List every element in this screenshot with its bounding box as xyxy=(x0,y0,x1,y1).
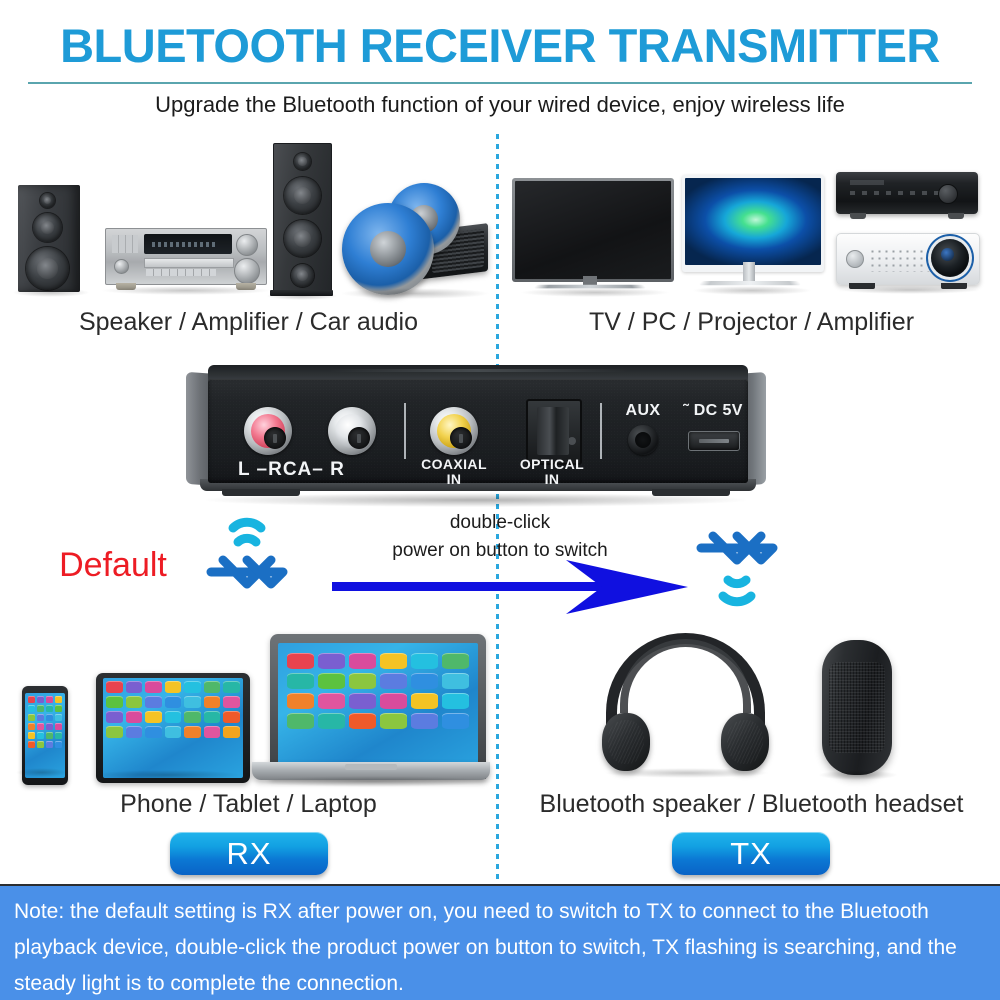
app-icon xyxy=(318,653,345,669)
infographic-page: BLUETOOTH RECEIVER TRANSMITTER Upgrade t… xyxy=(0,0,1000,1000)
app-icon xyxy=(46,741,53,748)
app-icon xyxy=(46,705,53,712)
rca-right-jack xyxy=(328,407,376,455)
app-icon xyxy=(411,673,438,689)
app-icon xyxy=(380,653,407,669)
app-icon xyxy=(349,673,376,689)
app-icon xyxy=(380,693,407,709)
app-icon xyxy=(126,711,143,723)
app-icon xyxy=(349,653,376,669)
aux-label: AUX xyxy=(618,403,668,418)
coaxial-label-line2: IN xyxy=(447,471,462,487)
app-icon xyxy=(287,693,314,709)
page-title: BLUETOOTH RECEIVER TRANSMITTER xyxy=(0,18,1000,73)
app-icon xyxy=(55,705,62,712)
app-icon xyxy=(126,681,143,693)
app-icon xyxy=(106,681,123,693)
app-icon xyxy=(380,713,407,729)
app-icon xyxy=(165,726,182,738)
app-icon xyxy=(223,711,240,723)
coaxial-label-line1: COAXIAL xyxy=(421,456,487,472)
app-icon xyxy=(411,693,438,709)
app-icon xyxy=(442,673,469,689)
app-icon xyxy=(28,696,35,703)
aux-jack xyxy=(628,425,658,455)
app-icon xyxy=(126,726,143,738)
caption-speaker-amplifier-car-audio: Speaker / Amplifier / Car audio xyxy=(0,308,497,337)
app-icon xyxy=(184,711,201,723)
app-icon xyxy=(28,714,35,721)
optical-label-line1: OPTICAL xyxy=(520,456,584,472)
app-icon xyxy=(28,741,35,748)
app-icon xyxy=(37,705,44,712)
coaxial-in-jack xyxy=(430,407,478,455)
app-icon xyxy=(55,732,62,739)
app-icon xyxy=(204,726,221,738)
app-icon xyxy=(223,681,240,693)
bluetooth-receiver-device: L –RCA– R COAXIAL IN OPTICAL IN AUX ˜ DC… xyxy=(186,365,766,505)
app-icon xyxy=(46,714,53,721)
app-icon xyxy=(55,696,62,703)
caption-phone-tablet-laptop: Phone / Tablet / Laptop xyxy=(0,790,497,819)
app-icon xyxy=(165,696,182,708)
instruction-line-1: double-click xyxy=(330,512,670,534)
app-icon xyxy=(349,713,376,729)
bluetooth-headset-icon xyxy=(598,633,773,773)
app-icon xyxy=(349,693,376,709)
app-icon xyxy=(184,726,201,738)
tx-badge[interactable]: TX xyxy=(672,832,830,875)
optical-in-label: OPTICAL IN xyxy=(504,457,600,487)
app-icon xyxy=(223,726,240,738)
app-icon xyxy=(165,711,182,723)
app-icon xyxy=(287,673,314,689)
rx-badge[interactable]: RX xyxy=(170,832,328,875)
app-icon xyxy=(55,714,62,721)
app-icon xyxy=(46,723,53,730)
app-icon xyxy=(46,696,53,703)
app-icon xyxy=(37,741,44,748)
app-icon xyxy=(411,713,438,729)
app-icon xyxy=(28,723,35,730)
app-icon xyxy=(287,653,314,669)
app-icon xyxy=(318,673,345,689)
app-icon xyxy=(28,705,35,712)
app-icon xyxy=(126,696,143,708)
app-icon xyxy=(442,693,469,709)
app-icon xyxy=(380,673,407,689)
app-icon xyxy=(223,696,240,708)
tablet-icon xyxy=(96,673,250,783)
app-icon xyxy=(411,653,438,669)
app-icon xyxy=(145,681,162,693)
app-icon xyxy=(145,711,162,723)
app-icon xyxy=(106,711,123,723)
coaxial-in-label: COAXIAL IN xyxy=(406,457,502,487)
caption-tv-pc-projector-amplifier: TV / PC / Projector / Amplifier xyxy=(503,308,1000,337)
app-icon xyxy=(318,713,345,729)
bluetooth-speaker-icon xyxy=(822,640,892,775)
app-icon xyxy=(204,711,221,723)
app-icon xyxy=(442,653,469,669)
title-divider-rule xyxy=(28,82,972,84)
app-icon xyxy=(145,696,162,708)
app-icon xyxy=(287,713,314,729)
app-icon xyxy=(184,696,201,708)
dc-5v-micro-usb-port xyxy=(688,431,740,451)
app-icon xyxy=(37,696,44,703)
app-icon xyxy=(106,726,123,738)
rca-label: L –RCA– R xyxy=(238,459,345,481)
app-icon xyxy=(165,681,182,693)
optical-label-line2: IN xyxy=(545,471,560,487)
app-icon xyxy=(106,696,123,708)
app-icon xyxy=(184,681,201,693)
bluetooth-tx-icon xyxy=(695,518,779,610)
app-icon xyxy=(37,732,44,739)
app-icon xyxy=(37,723,44,730)
app-icon xyxy=(145,726,162,738)
app-icon xyxy=(55,741,62,748)
app-icon xyxy=(46,732,53,739)
dc-5v-label: ˜ DC 5V xyxy=(678,403,748,418)
app-icon xyxy=(442,713,469,729)
default-mode-label: Default xyxy=(28,546,198,585)
device-front-panel: L –RCA– R COAXIAL IN OPTICAL IN AUX ˜ DC… xyxy=(208,379,748,483)
app-icon xyxy=(55,723,62,730)
app-icon xyxy=(204,696,221,708)
app-icon xyxy=(204,681,221,693)
note-banner: Note: the default setting is RX after po… xyxy=(0,884,1000,1000)
app-icon xyxy=(28,732,35,739)
caption-bluetooth-speaker-headset: Bluetooth speaker / Bluetooth headset xyxy=(503,790,1000,819)
rca-left-jack xyxy=(244,407,292,455)
page-subtitle: Upgrade the Bluetooth function of your w… xyxy=(0,92,1000,118)
app-icon xyxy=(37,714,44,721)
app-icon xyxy=(318,693,345,709)
switch-arrow-head xyxy=(560,556,690,618)
bluetooth-rx-icon xyxy=(205,508,289,600)
